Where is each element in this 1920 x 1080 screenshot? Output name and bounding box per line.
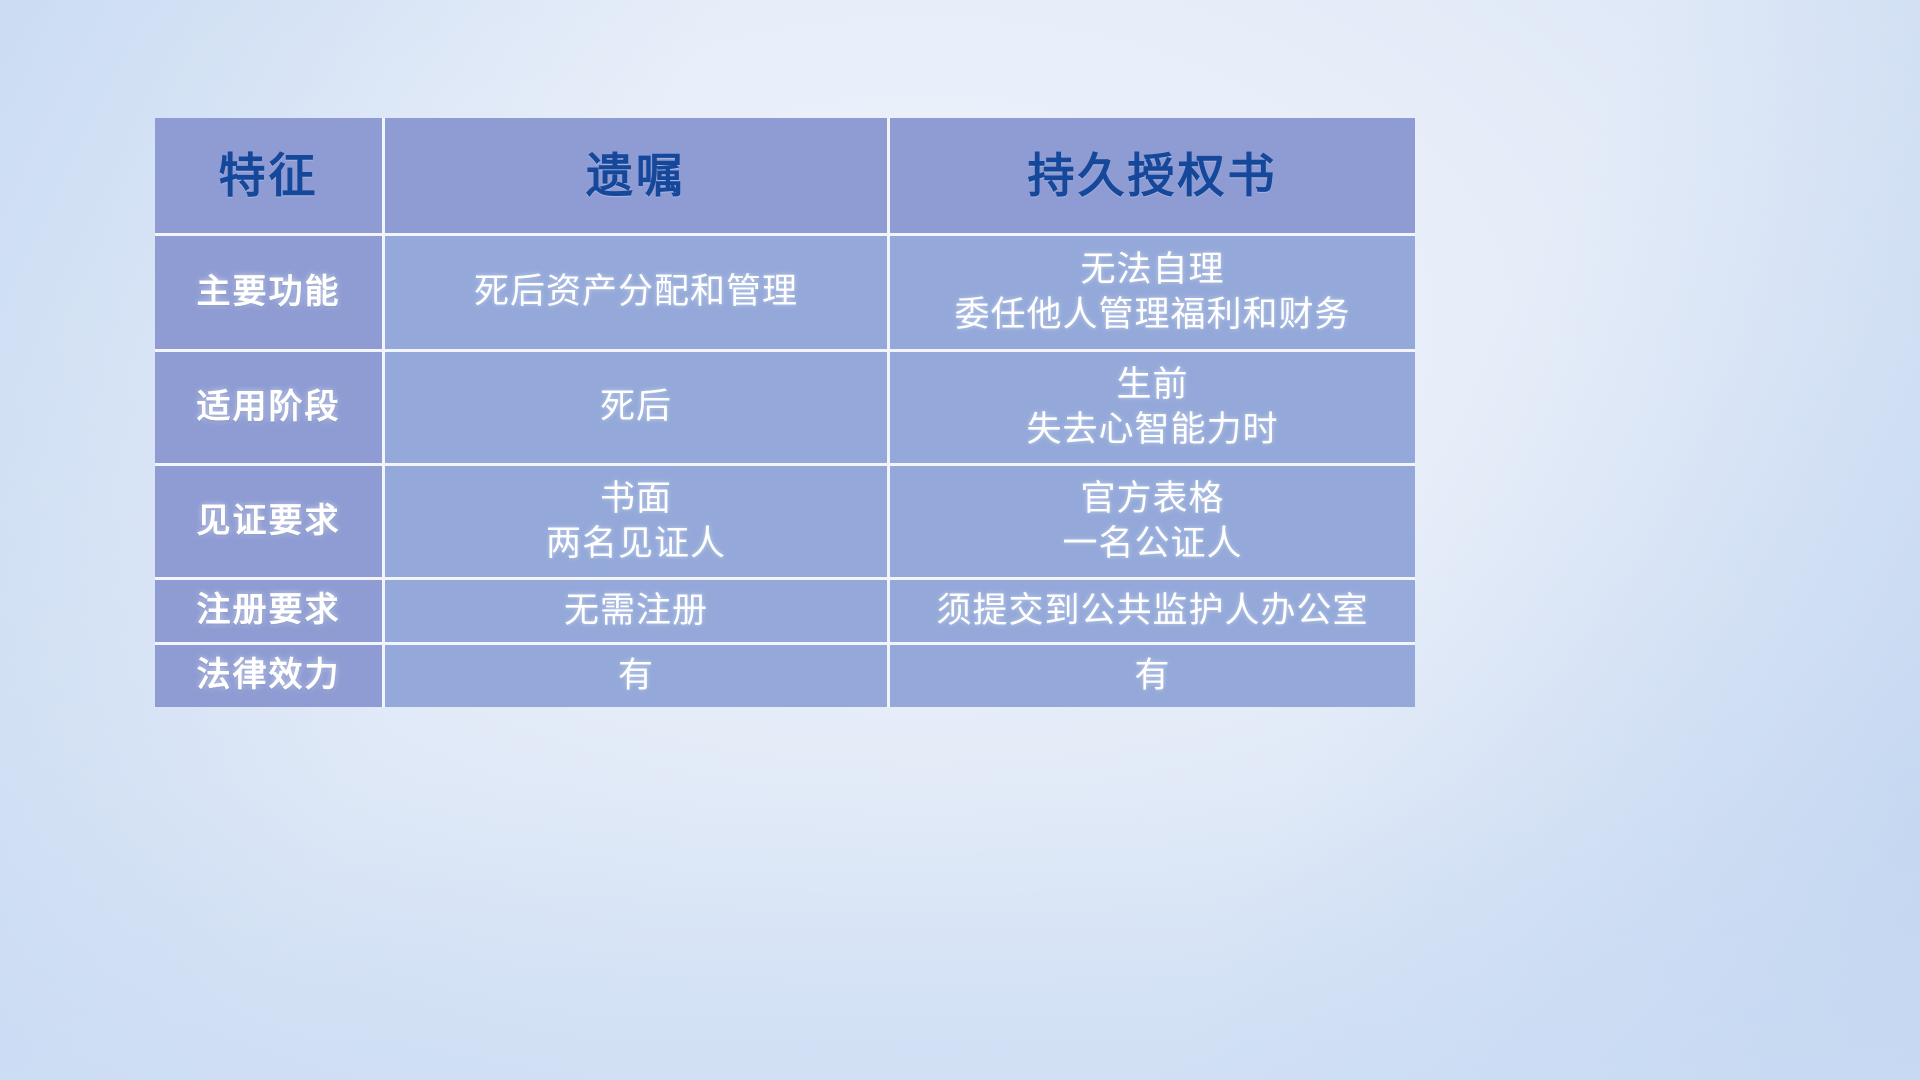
table-row: 法律效力 有 有 — [155, 645, 1415, 707]
table-body: 主要功能 死后资产分配和管理 无法自理 委任他人管理福利和财务 适 — [155, 236, 1415, 707]
cell-poa-primary-function: 无法自理 委任他人管理福利和财务 — [890, 236, 1415, 352]
column-header-poa: 持久授权书 — [890, 118, 1415, 236]
cell-will-witness-requirement: 书面 两名见证人 — [385, 466, 890, 580]
cell-poa-registration-requirement: 须提交到公共监护人办公室 — [890, 580, 1415, 645]
table-row: 适用阶段 死后 生前 失去心智能力时 — [155, 352, 1415, 466]
comparison-table-container: 特征 遗嘱 持久授权书 主要功能 死后资产分配和管理 无法自理 — [155, 118, 1415, 707]
row-label-legal-effect: 法律效力 — [155, 645, 385, 707]
cell-line: 死后 — [385, 385, 887, 430]
cell-poa-legal-effect: 有 — [890, 645, 1415, 707]
cell-lines: 无需注册 — [385, 589, 887, 634]
table-header: 特征 遗嘱 持久授权书 — [155, 118, 1415, 236]
cell-will-legal-effect: 有 — [385, 645, 890, 707]
cell-line: 无需注册 — [385, 589, 887, 634]
table-row: 注册要求 无需注册 须提交到公共监护人办公室 — [155, 580, 1415, 645]
cell-lines: 生前 失去心智能力时 — [890, 363, 1415, 453]
table-row: 见证要求 书面 两名见证人 官方表格 一名公证人 — [155, 466, 1415, 580]
cell-lines: 须提交到公共监护人办公室 — [890, 589, 1415, 634]
cell-line: 有 — [385, 654, 887, 699]
cell-line: 官方表格 — [890, 477, 1415, 522]
cell-will-applicable-stage: 死后 — [385, 352, 890, 466]
cell-lines: 死后资产分配和管理 — [385, 270, 887, 315]
cell-lines: 无法自理 委任他人管理福利和财务 — [890, 248, 1415, 338]
cell-lines: 有 — [385, 654, 887, 699]
cell-line: 两名见证人 — [385, 522, 887, 567]
row-label-primary-function: 主要功能 — [155, 236, 385, 352]
cell-will-primary-function: 死后资产分配和管理 — [385, 236, 890, 352]
cell-line: 书面 — [385, 477, 887, 522]
row-label-applicable-stage: 适用阶段 — [155, 352, 385, 466]
cell-lines: 有 — [890, 654, 1415, 699]
comparison-table: 特征 遗嘱 持久授权书 主要功能 死后资产分配和管理 无法自理 — [155, 118, 1415, 707]
cell-line: 死后资产分配和管理 — [385, 270, 887, 315]
column-header-feature: 特征 — [155, 118, 385, 236]
cell-poa-applicable-stage: 生前 失去心智能力时 — [890, 352, 1415, 466]
cell-lines: 书面 两名见证人 — [385, 477, 887, 567]
cell-line: 有 — [890, 654, 1415, 699]
cell-line: 生前 — [890, 363, 1415, 408]
cell-line: 一名公证人 — [890, 522, 1415, 567]
cell-line: 失去心智能力时 — [890, 408, 1415, 453]
column-header-will: 遗嘱 — [385, 118, 890, 236]
cell-poa-witness-requirement: 官方表格 一名公证人 — [890, 466, 1415, 580]
cell-will-registration-requirement: 无需注册 — [385, 580, 890, 645]
cell-line: 须提交到公共监护人办公室 — [890, 589, 1415, 634]
cell-lines: 官方表格 一名公证人 — [890, 477, 1415, 567]
cell-lines: 死后 — [385, 385, 887, 430]
slide-canvas: 特征 遗嘱 持久授权书 主要功能 死后资产分配和管理 无法自理 — [0, 0, 1920, 1080]
table-row: 主要功能 死后资产分配和管理 无法自理 委任他人管理福利和财务 — [155, 236, 1415, 352]
row-label-registration-requirement: 注册要求 — [155, 580, 385, 645]
cell-line: 无法自理 — [890, 248, 1415, 293]
table-header-row: 特征 遗嘱 持久授权书 — [155, 118, 1415, 236]
row-label-witness-requirement: 见证要求 — [155, 466, 385, 580]
cell-line: 委任他人管理福利和财务 — [890, 293, 1415, 338]
